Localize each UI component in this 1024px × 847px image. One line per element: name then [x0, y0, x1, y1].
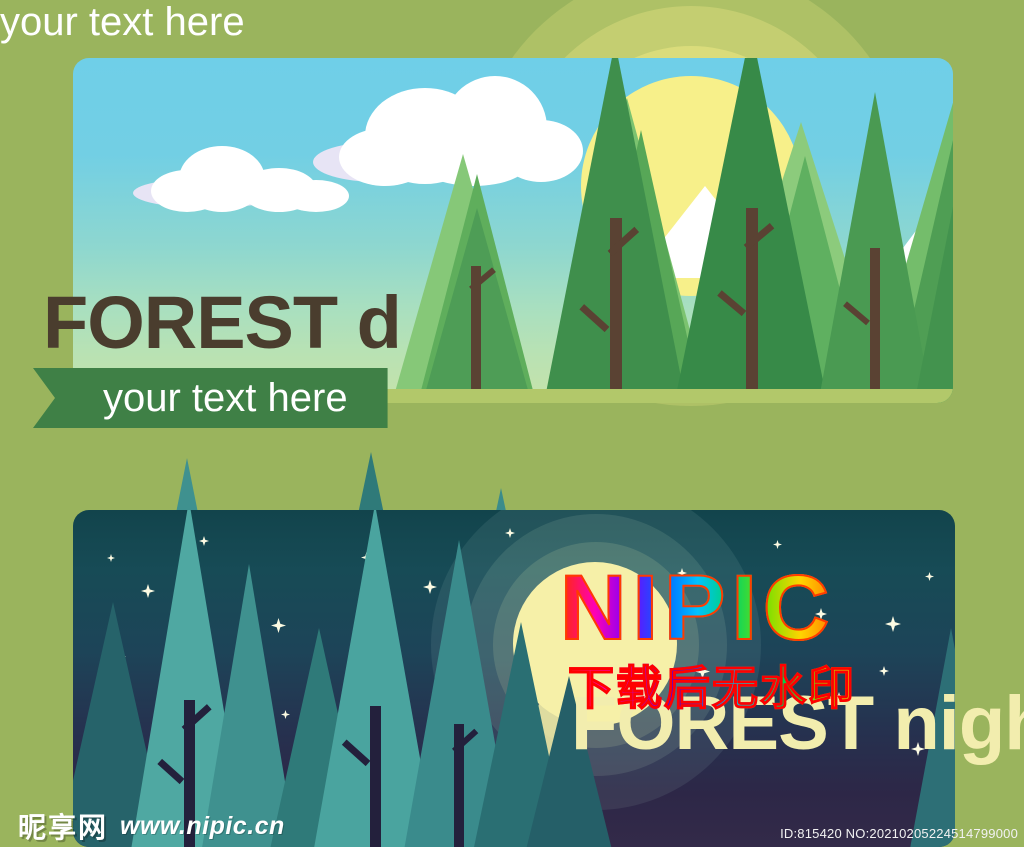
- image-id-label: ID:815420 NO:20210205224514799000: [780, 826, 1018, 841]
- canvas: FOREST d your text here: [0, 0, 1024, 847]
- day-headline: FOREST d: [43, 280, 401, 365]
- nipic-logo-cn: 昵享网: [18, 806, 108, 846]
- night-ribbon-label: your text here: [0, 0, 245, 45]
- night-banner-clip: [73, 510, 955, 847]
- tree-front-4-trunk: [870, 248, 880, 403]
- nipic-logo: 昵享网 www.nipic.cn: [18, 806, 285, 846]
- day-ribbon: your text here: [33, 368, 388, 428]
- tree-front-5: [913, 58, 953, 403]
- nipic-logo-cn-text: 昵享网: [18, 812, 108, 843]
- nipic-logo-url: www.nipic.cn: [120, 812, 285, 841]
- night-ribbon: your text here: [0, 0, 245, 45]
- night-tree-5-trunk: [370, 706, 381, 847]
- day-ribbon-label: your text here: [103, 376, 348, 421]
- forest-day-banner: FOREST d your text here: [73, 58, 953, 403]
- night-headline: FOREST nigh: [571, 680, 1024, 767]
- forest-night-banner: FOREST nigh: [73, 510, 955, 847]
